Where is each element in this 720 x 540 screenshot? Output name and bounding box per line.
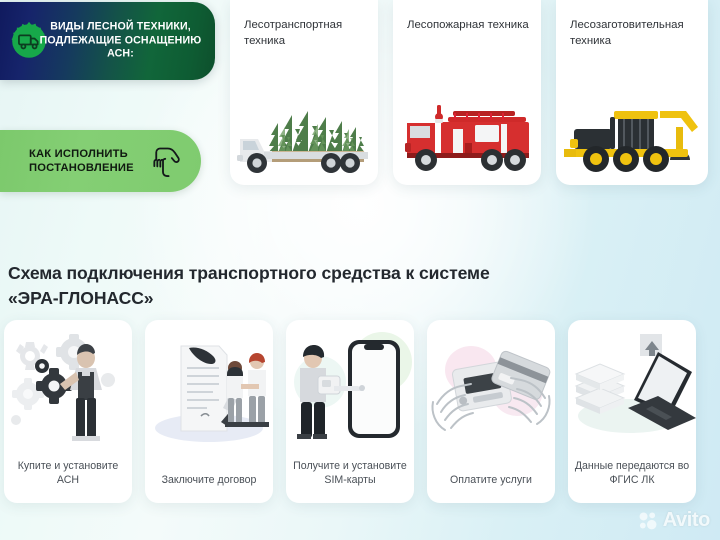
red-fire-truck-icon xyxy=(393,67,541,179)
headline-text: ВИДЫ ЛЕСНОЙ ТЕХНИКИ, ПОДЛЕЖАЩИЕ ОСНАЩЕНИ… xyxy=(34,21,207,62)
step-label: Получите и установите SIM-карты xyxy=(292,459,408,487)
vehicle-card-fire-fighting[interactable]: Лесопожарная техника xyxy=(393,0,541,185)
step-label: Оплатите услуги xyxy=(433,473,549,487)
step-label: Заключите договор xyxy=(151,473,267,487)
pointing-hand-icon xyxy=(148,141,182,181)
step-card-get-sim[interactable]: Получите и установите SIM-карты xyxy=(286,320,414,503)
cta-label: КАК ИСПОЛНИТЬ ПОСТАНОВЛЕНИЕ xyxy=(29,147,134,175)
avito-watermark: Avito xyxy=(638,509,710,532)
avito-watermark-text: Avito xyxy=(663,509,710,532)
step-card-pay-services[interactable]: Оплатите услуги xyxy=(427,320,555,503)
vehicle-card-title: Лесотранспортная техника xyxy=(244,18,368,49)
page-background: ВИДЫ ЛЕСНОЙ ТЕХНИКИ, ПОДЛЕЖАЩИЕ ОСНАЩЕНИ… xyxy=(0,0,720,540)
vehicle-types-section: ВИДЫ ЛЕСНОЙ ТЕХНИКИ, ПОДЛЕЖАЩИЕ ОСНАЩЕНИ… xyxy=(0,0,720,200)
vehicle-card-logging-transport[interactable]: Лесотранспортная техника xyxy=(230,0,378,185)
server-laptop-upload-icon xyxy=(568,324,696,450)
vehicle-card-title: Лесопожарная техника xyxy=(407,18,531,34)
yellow-forwarder-harvester-icon xyxy=(556,67,708,179)
avito-logo-icon xyxy=(638,511,660,531)
step-label: Купите и установите АСН xyxy=(10,459,126,487)
step-card-buy-install[interactable]: Купите и установите АСН xyxy=(4,320,132,503)
contract-handshake-icon xyxy=(145,324,273,450)
vehicle-card-harvesting[interactable]: Лесозаготовительная техника xyxy=(556,0,708,185)
headline-banner: ВИДЫ ЛЕСНОЙ ТЕХНИКИ, ПОДЛЕЖАЩИЕ ОСНАЩЕНИ… xyxy=(0,2,215,80)
how-to-comply-button[interactable]: КАК ИСПОЛНИТЬ ПОСТАНОВЛЕНИЕ xyxy=(0,130,201,192)
hands-with-card-terminal-icon xyxy=(427,324,555,450)
step-card-data-transfer[interactable]: Данные передаются во ФГИС ЛК xyxy=(568,320,696,503)
step-card-sign-contract[interactable]: Заключите договор xyxy=(145,320,273,503)
page-title: Схема подключения транспортного средства… xyxy=(8,261,628,311)
vehicle-card-title: Лесозаготовительная техника xyxy=(570,18,698,49)
step-label: Данные передаются во ФГИС ЛК xyxy=(574,459,690,487)
man-with-phone-sim-icon xyxy=(286,324,414,450)
worker-with-gears-icon xyxy=(4,324,132,450)
logging-truck-with-trees-icon xyxy=(230,67,378,179)
